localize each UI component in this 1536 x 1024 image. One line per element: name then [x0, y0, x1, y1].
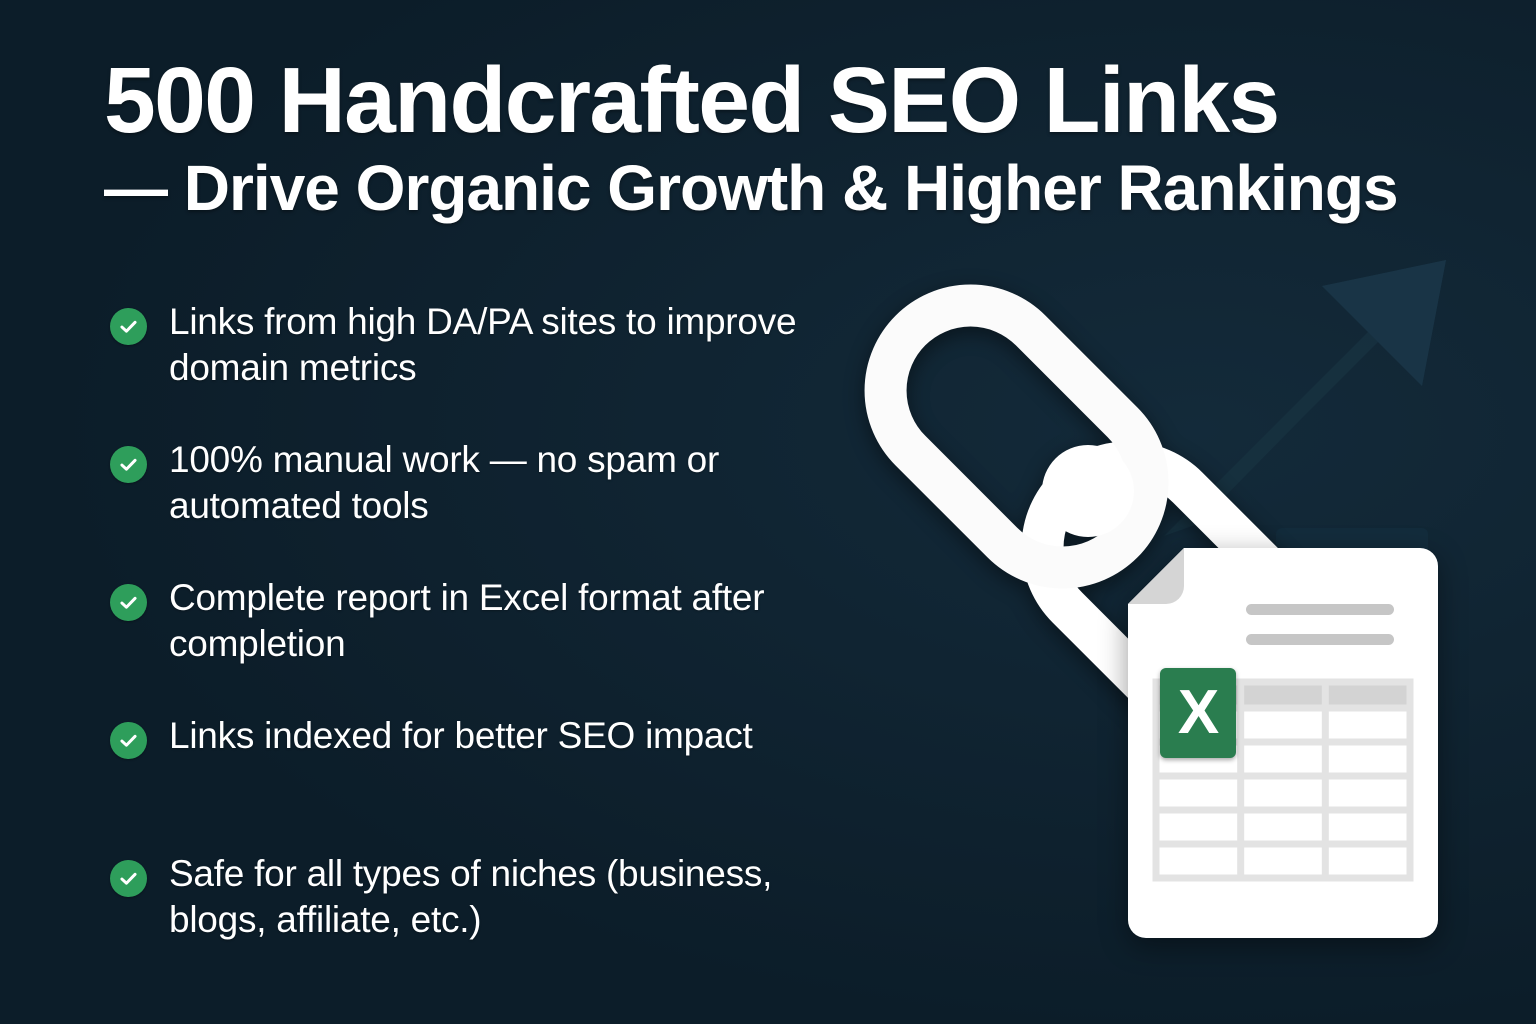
list-item: Complete report in Excel format after co… — [110, 575, 840, 713]
list-item: 100% manual work — no spam or automated … — [110, 437, 840, 575]
check-circle-icon — [110, 446, 147, 483]
artwork-illustration: X — [850, 250, 1536, 970]
headline-secondary: — Drive Organic Growth & Higher Rankings — [104, 154, 1434, 223]
benefit-label: Links from high DA/PA sites to improve d… — [169, 299, 829, 390]
check-circle-icon — [110, 308, 147, 345]
list-item: Links from high DA/PA sites to improve d… — [110, 299, 840, 437]
benefits-list: Links from high DA/PA sites to improve d… — [110, 299, 840, 989]
check-circle-icon — [110, 722, 147, 759]
excel-badge-letter: X — [1178, 682, 1218, 744]
list-item: Links indexed for better SEO impact — [110, 713, 840, 851]
text-column: 500 Handcrafted SEO Links — Drive Organi… — [0, 0, 880, 1024]
check-circle-icon — [110, 860, 147, 897]
page-title: 500 Handcrafted SEO Links — Drive Organi… — [104, 52, 1434, 223]
doc-header-line — [1246, 634, 1394, 645]
headline-primary: 500 Handcrafted SEO Links — [104, 52, 1434, 150]
promo-banner: 500 Handcrafted SEO Links — Drive Organi… — [0, 0, 1536, 1024]
list-item: Safe for all types of niches (business, … — [110, 851, 840, 989]
benefit-label: Links indexed for better SEO impact — [169, 713, 829, 759]
benefit-label: Complete report in Excel format after co… — [169, 575, 829, 666]
benefit-label: Safe for all types of niches (business, … — [169, 851, 829, 942]
excel-badge: X — [1160, 668, 1236, 758]
doc-header-line — [1246, 604, 1394, 615]
benefit-label: 100% manual work — no spam or automated … — [169, 437, 829, 528]
check-circle-icon — [110, 584, 147, 621]
